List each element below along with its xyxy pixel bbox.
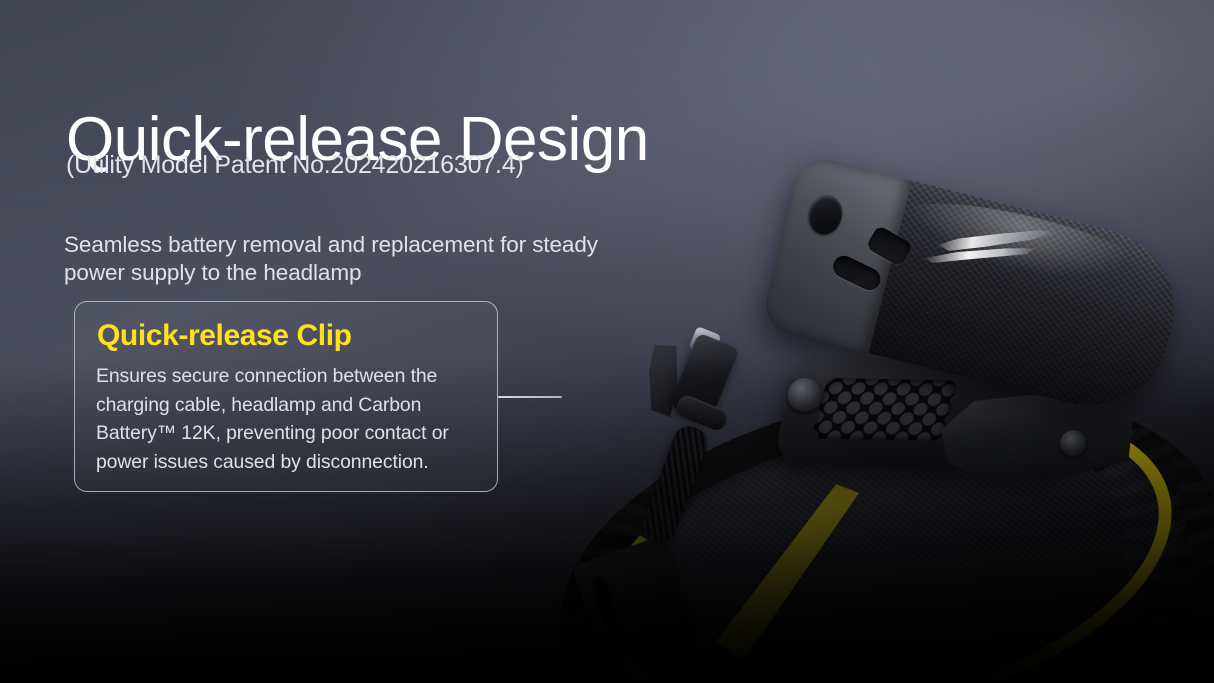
callout-leader-line [498, 396, 562, 398]
callout-card: Quick-release Clip Ensures secure connec… [74, 301, 498, 492]
callout-title: Quick-release Clip [97, 319, 352, 353]
product-feature-slide: Quick-release Design (Utility Model Pate… [0, 0, 1214, 683]
callout-body: Ensures secure connection between the ch… [96, 362, 488, 476]
patent-note: (Utility Model Patent No.202420216307.4) [66, 151, 524, 180]
subtitle-text: Seamless battery removal and replacement… [64, 231, 664, 289]
